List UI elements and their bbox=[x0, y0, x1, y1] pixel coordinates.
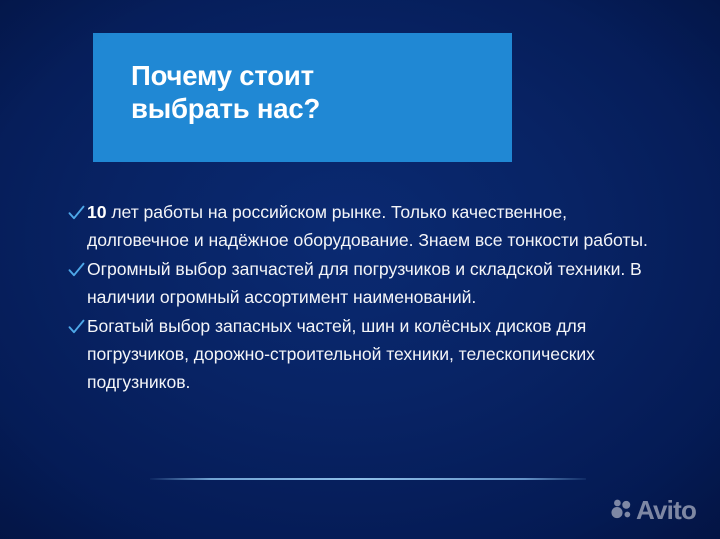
list-item: 10 лет работы на российском рынке. Тольк… bbox=[66, 198, 666, 254]
avito-dots-icon bbox=[610, 498, 634, 522]
list-item-body: Богатый выбор запасных частей, шин и кол… bbox=[87, 316, 595, 392]
list-item-body: Огромный выбор запчастей для погрузчиков… bbox=[87, 259, 642, 307]
check-icon bbox=[66, 313, 87, 341]
slide-canvas: Почему стоит выбрать нас? 10 лет работы … bbox=[0, 0, 720, 539]
list-item-text: Огромный выбор запчастей для погрузчиков… bbox=[87, 255, 666, 311]
title-banner: Почему стоит выбрать нас? bbox=[93, 33, 512, 162]
check-icon bbox=[66, 256, 87, 284]
list-item: Богатый выбор запасных частей, шин и кол… bbox=[66, 312, 666, 396]
page-title: Почему стоит выбрать нас? bbox=[131, 59, 498, 125]
avito-watermark: Avito bbox=[610, 497, 696, 523]
check-icon bbox=[66, 199, 87, 227]
list-item: Огромный выбор запчастей для погрузчиков… bbox=[66, 255, 666, 311]
divider bbox=[150, 478, 586, 480]
avito-wordmark: Avito bbox=[636, 497, 696, 523]
list-item-text: 10 лет работы на российском рынке. Тольк… bbox=[87, 198, 666, 254]
list-item-text: Богатый выбор запасных частей, шин и кол… bbox=[87, 312, 666, 396]
list-item-body: лет работы на российском рынке. Только к… bbox=[87, 202, 648, 250]
list-item-lead: 10 bbox=[87, 202, 106, 222]
benefits-list: 10 лет работы на российском рынке. Тольк… bbox=[66, 198, 666, 397]
